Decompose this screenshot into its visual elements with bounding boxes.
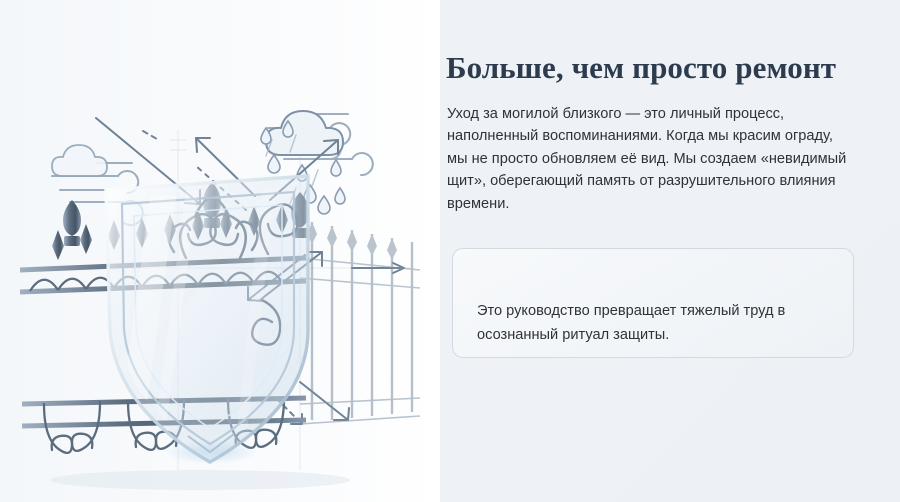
page-title: Больше, чем просто ремонт (446, 49, 866, 87)
callout-text: Это руководство превращает тяжелый труд … (477, 299, 837, 347)
protection-illustration (0, 0, 440, 502)
text-column: Больше, чем просто ремонт Уход за могило… (446, 0, 900, 502)
intro-paragraph: Уход за могилой близкого — это личный пр… (447, 103, 852, 216)
ground-shadow (50, 470, 350, 490)
callout-box: Это руководство превращает тяжелый труд … (452, 248, 854, 358)
hero-section: Больше, чем просто ремонт Уход за могило… (0, 0, 900, 502)
